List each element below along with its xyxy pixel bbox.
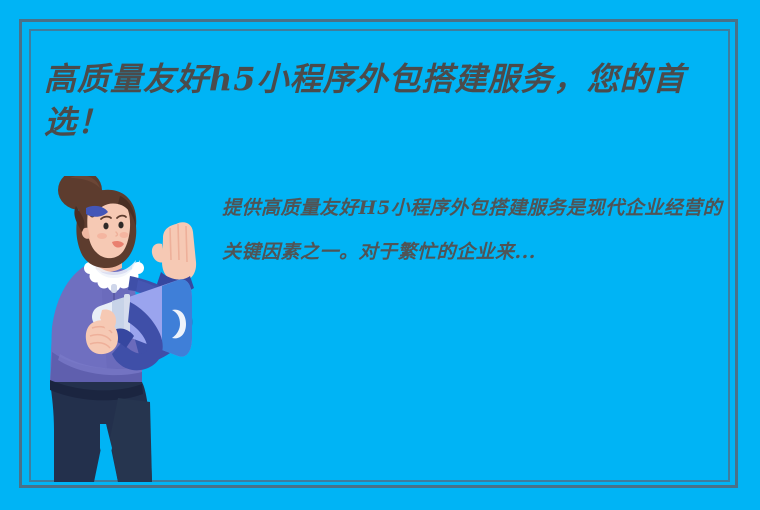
zipper-pull [111,284,117,293]
trousers-right-leg-shade [110,398,152,482]
illustration-woman-with-megaphone [30,176,220,486]
blush-right [120,232,129,238]
poster-canvas: 高质量友好h5小程序外包搭建服务，您的首选！ 提供高质量友好H5小程序外包搭建服… [0,0,760,510]
eye-left [103,223,108,230]
eye-right [118,222,123,229]
raised-hand [152,222,196,282]
page-title: 高质量友好h5小程序外包搭建服务，您的首选！ [44,58,728,144]
blush-left [97,233,107,239]
body-text: 提供高质量友好H5小程序外包搭建服务是现代企业经营的关键因素之一。对于繁忙的企业… [222,186,730,274]
